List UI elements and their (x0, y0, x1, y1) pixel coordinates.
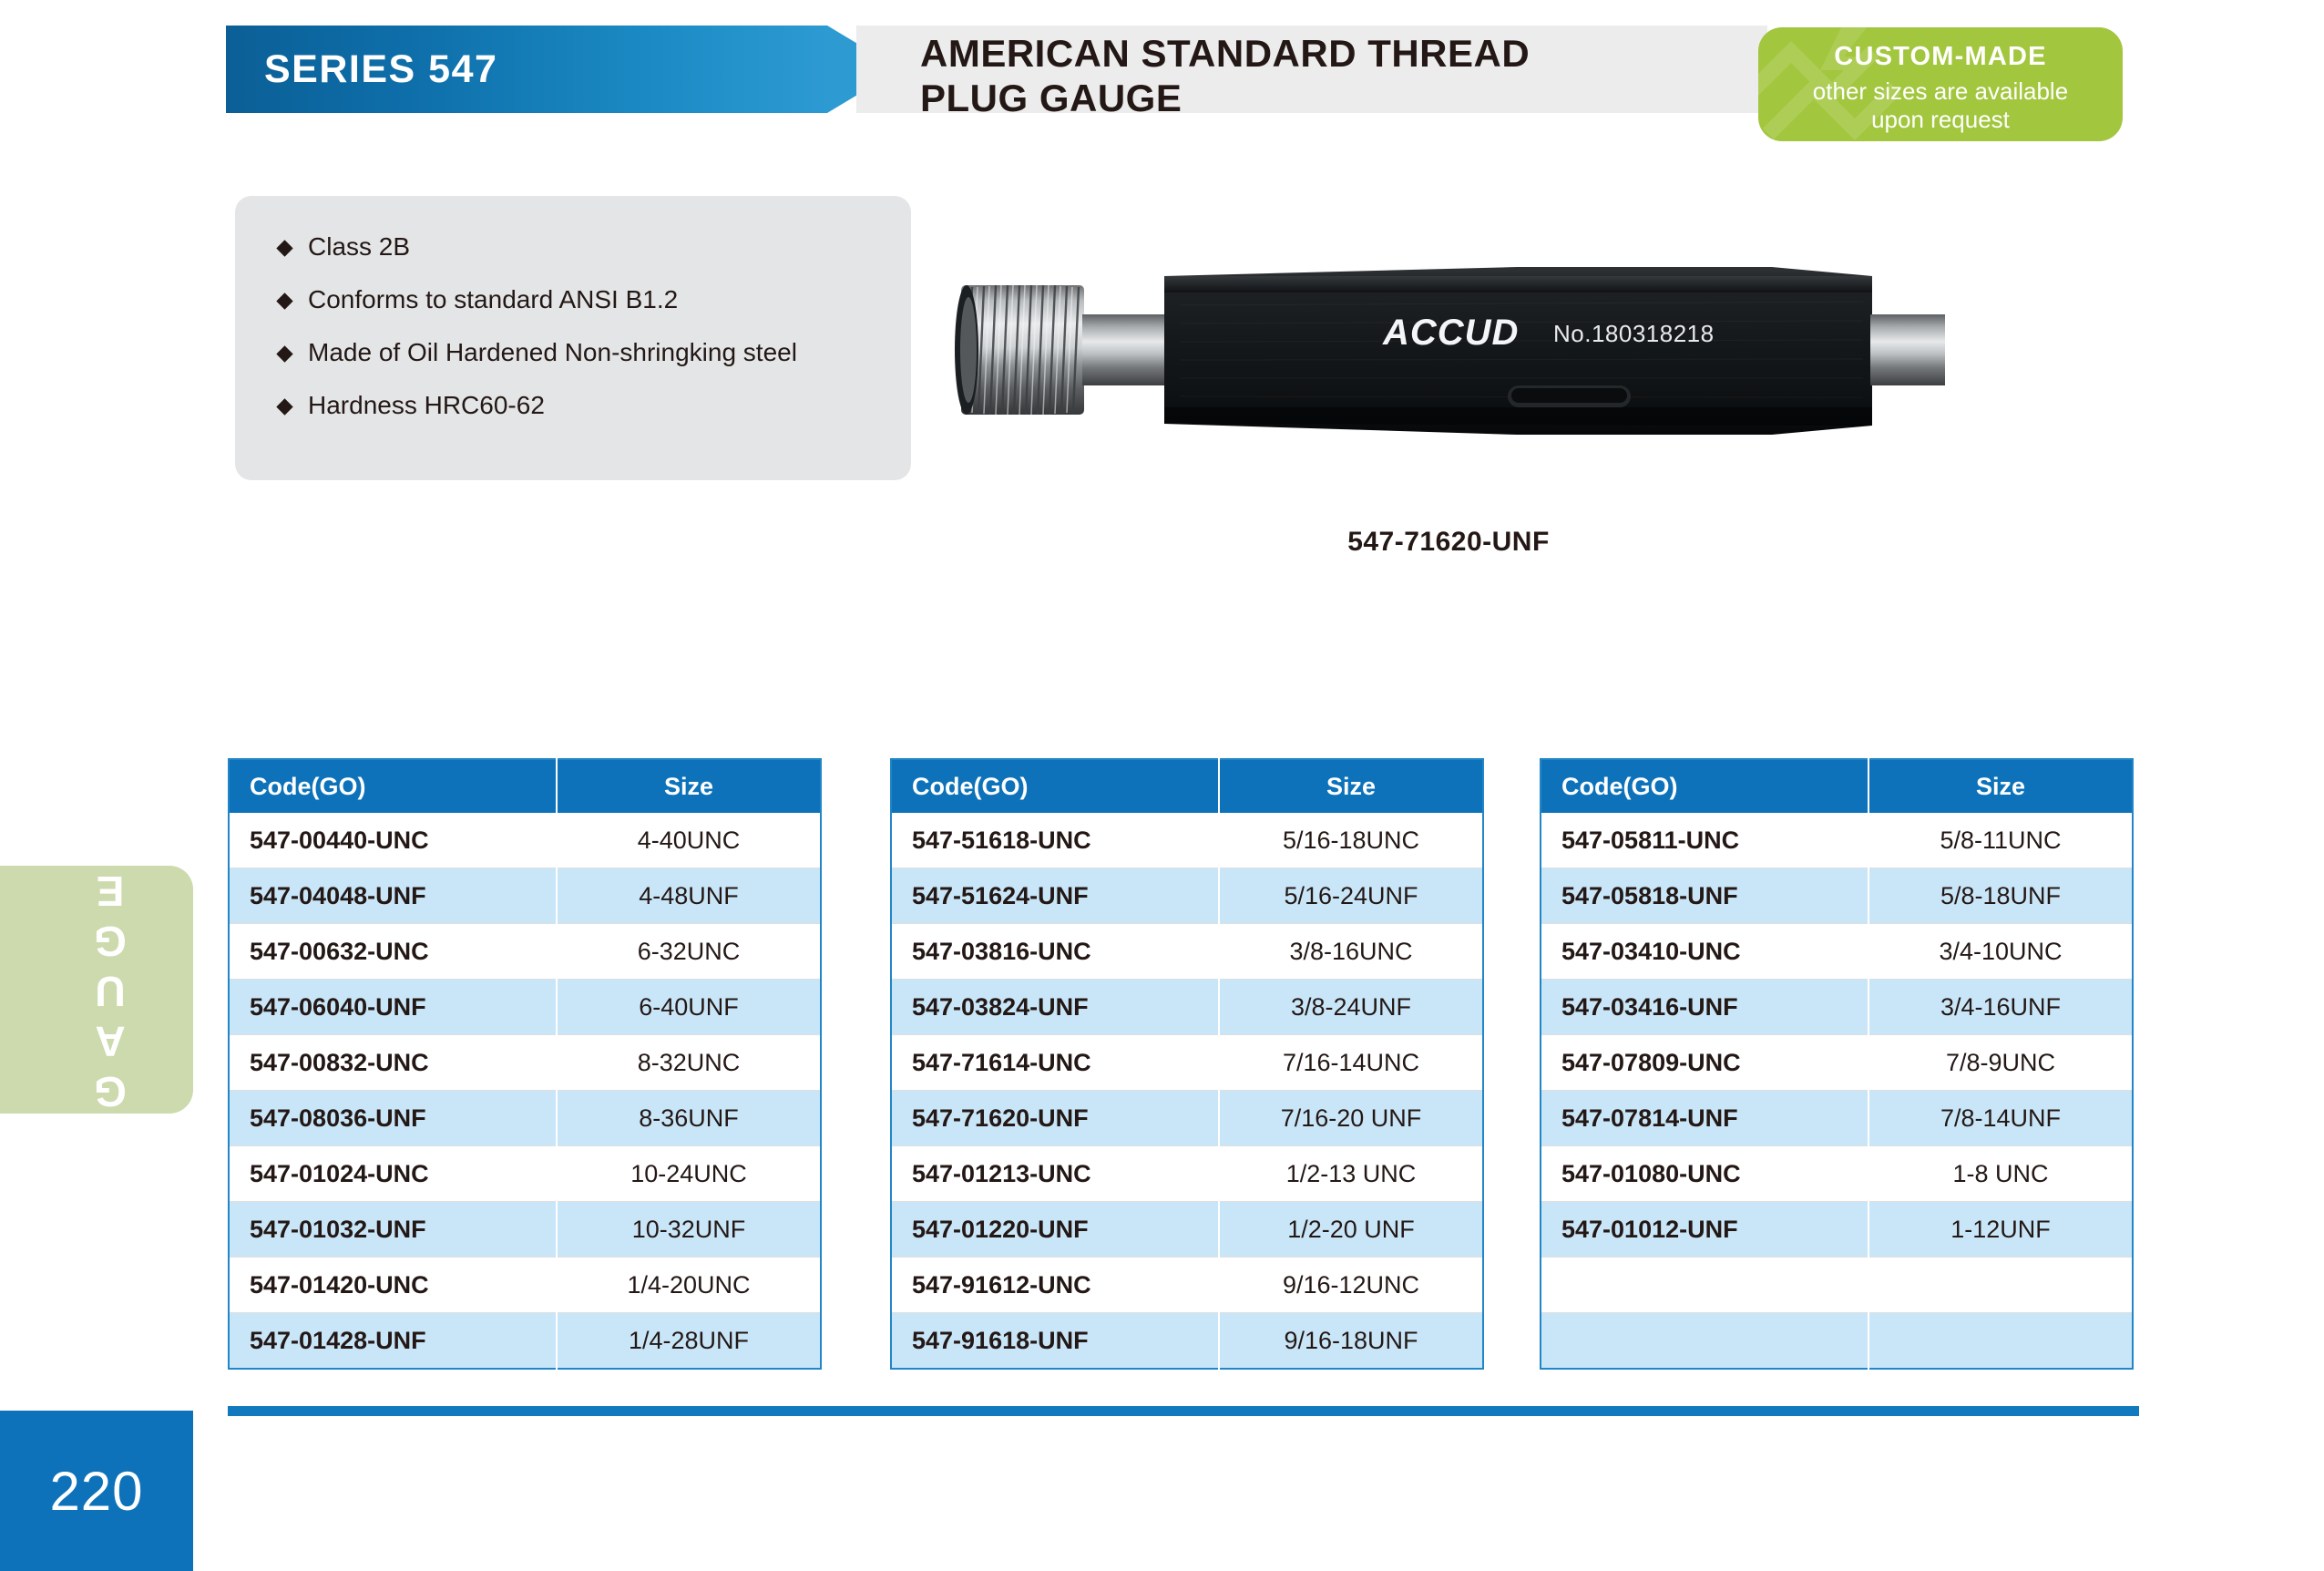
table-row: 547-01420-UNC1/4-20UNC (229, 1258, 821, 1313)
cell-size: 5/16-18UNC (1219, 813, 1483, 868)
cell-size: 5/8-18UNF (1868, 868, 2133, 924)
table-row: 547-91618-UNF9/16-18UNF (891, 1313, 1483, 1370)
series-label: SERIES 547 (264, 26, 497, 113)
table-row: 547-91612-UNC9/16-12UNC (891, 1258, 1483, 1313)
brand-text: ACCUD (1382, 313, 1519, 353)
cell-code: 547-03410-UNC (1541, 924, 1868, 980)
table-header-row: Code(GO) Size (229, 759, 821, 813)
section-tab-label: GAUGE (86, 865, 135, 1115)
cell-size: 9/16-12UNC (1219, 1258, 1483, 1313)
cell-size: 6-40UNF (557, 980, 821, 1035)
table-row-empty (1541, 1258, 2133, 1313)
cell-size: 3/8-24UNF (1219, 980, 1483, 1035)
cell-size: 10-24UNC (557, 1146, 821, 1202)
cell-size: 7/16-14UNC (1219, 1035, 1483, 1091)
feature-item: Made of Oil Hardened Non-shringking stee… (279, 338, 895, 367)
table-row: 547-01012-UNF1-12UNF (1541, 1202, 2133, 1258)
feature-item-label: Class 2B (308, 232, 410, 262)
cell-size: 3/4-16UNF (1868, 980, 2133, 1035)
table-row: 547-51624-UNF5/16-24UNF (891, 868, 1483, 924)
cell-size (1868, 1258, 2133, 1313)
cell-size: 8-32UNC (557, 1035, 821, 1091)
table-row: 547-71614-UNC7/16-14UNC (891, 1035, 1483, 1091)
spec-table-3: Code(GO) Size 547-05811-UNC5/8-11UNC 547… (1540, 758, 2134, 1370)
section-tab-label-wrap: GAUGE (0, 866, 193, 1114)
diamond-bullet-icon (276, 398, 292, 415)
cell-code: 547-05811-UNC (1541, 813, 1868, 868)
cell-code: 547-01220-UNF (891, 1202, 1219, 1258)
thread-plug-gauge-illustration: ACCUD No.180318218 (952, 251, 1945, 447)
cell-code: 547-00632-UNC (229, 924, 557, 980)
cell-code: 547-01420-UNC (229, 1258, 557, 1313)
product-caption: 547-71620-UNF (952, 527, 1945, 558)
column-header-code: Code(GO) (229, 759, 557, 813)
spec-table-1: Code(GO) Size 547-00440-UNC4-40UNC 547-0… (228, 758, 822, 1370)
table-row: 547-04048-UNF4-48UNF (229, 868, 821, 924)
cell-code: 547-91612-UNC (891, 1258, 1219, 1313)
right-shaft (1870, 314, 1945, 385)
table-row: 547-05818-UNF5/8-18UNF (1541, 868, 2133, 924)
spec-table-2: Code(GO) Size 547-51618-UNC5/16-18UNC 54… (890, 758, 1484, 1370)
badge-subtitle: other sizes are available upon request (1758, 77, 2123, 133)
cell-code (1541, 1258, 1868, 1313)
cell-size: 4-48UNF (557, 868, 821, 924)
cell-size (1868, 1313, 2133, 1370)
cell-code: 547-08036-UNF (229, 1091, 557, 1146)
badge-title: CUSTOM-MADE (1758, 42, 2123, 72)
footer-divider (228, 1406, 2139, 1416)
table-row: 547-07814-UNF7/8-14UNF (1541, 1091, 2133, 1146)
cell-size: 7/16-20 UNF (1219, 1091, 1483, 1146)
table-row: 547-00440-UNC4-40UNC (229, 813, 821, 868)
cell-size: 3/4-10UNC (1868, 924, 2133, 980)
cell-code: 547-01024-UNC (229, 1146, 557, 1202)
left-thread-end (955, 285, 1084, 415)
cell-code: 547-03824-UNF (891, 980, 1219, 1035)
cell-size: 1-8 UNC (1868, 1146, 2133, 1202)
table-row: 547-07809-UNC7/8-9UNC (1541, 1035, 2133, 1091)
column-header-code: Code(GO) (1541, 759, 1868, 813)
badge-subtitle-line-2: upon request (1769, 106, 2112, 134)
table-row: 547-01080-UNC1-8 UNC (1541, 1146, 2133, 1202)
table-row-empty (1541, 1313, 2133, 1370)
cell-code: 547-01012-UNF (1541, 1202, 1868, 1258)
table-row: 547-05811-UNC5/8-11UNC (1541, 813, 2133, 868)
table-row: 547-06040-UNF6-40UNF (229, 980, 821, 1035)
table-row: 547-00632-UNC6-32UNC (229, 924, 821, 980)
product-photo: ACCUD No.180318218 (952, 251, 1945, 447)
table-row: 547-01024-UNC10-24UNC (229, 1146, 821, 1202)
gauge-body: ACCUD No.180318218 (1164, 267, 1872, 435)
feature-item: Hardness HRC60-62 (279, 391, 895, 420)
feature-box: Class 2B Conforms to standard ANSI B1.2 … (235, 196, 911, 480)
table-row: 547-01032-UNF10-32UNF (229, 1202, 821, 1258)
table-row: 547-51618-UNC5/16-18UNC (891, 813, 1483, 868)
badge-subtitle-line-1: other sizes are available (1769, 77, 2112, 106)
table-row: 547-03816-UNC3/8-16UNC (891, 924, 1483, 980)
cell-size: 9/16-18UNF (1219, 1313, 1483, 1370)
column-header-size: Size (557, 759, 821, 813)
cell-size: 8-36UNF (557, 1091, 821, 1146)
page-number-block: 220 (0, 1411, 193, 1571)
left-shaft (1082, 314, 1164, 385)
cell-code: 547-07814-UNF (1541, 1091, 1868, 1146)
table-row: 547-71620-UNF7/16-20 UNF (891, 1091, 1483, 1146)
diamond-bullet-icon (276, 293, 292, 309)
diamond-bullet-icon (276, 345, 292, 362)
series-banner: SERIES 547 (226, 26, 900, 113)
column-header-size: Size (1219, 759, 1483, 813)
table-row: 547-03410-UNC3/4-10UNC (1541, 924, 2133, 980)
cell-size: 6-32UNC (557, 924, 821, 980)
feature-item-label: Hardness HRC60-62 (308, 391, 545, 420)
cell-code: 547-00440-UNC (229, 813, 557, 868)
catalog-page: SERIES 547 AMERICAN STANDARD THREAD PLUG… (0, 0, 2324, 1571)
cell-code: 547-71620-UNF (891, 1091, 1219, 1146)
feature-item: Class 2B (279, 232, 895, 262)
cell-size: 7/8-9UNC (1868, 1035, 2133, 1091)
cell-code: 547-01080-UNC (1541, 1146, 1868, 1202)
column-header-size: Size (1868, 759, 2133, 813)
cell-size: 1-12UNF (1868, 1202, 2133, 1258)
cell-code: 547-06040-UNF (229, 980, 557, 1035)
feature-item: Conforms to standard ANSI B1.2 (279, 285, 895, 314)
feature-item-label: Conforms to standard ANSI B1.2 (308, 285, 678, 314)
diamond-bullet-icon (276, 240, 292, 256)
feature-list: Class 2B Conforms to standard ANSI B1.2 … (279, 232, 895, 444)
cell-size: 3/8-16UNC (1219, 924, 1483, 980)
cell-code: 547-04048-UNF (229, 868, 557, 924)
table-header-row: Code(GO) Size (1541, 759, 2133, 813)
cell-code (1541, 1313, 1868, 1370)
serial-text: No.180318218 (1553, 320, 1715, 347)
cell-size: 1/4-20UNC (557, 1258, 821, 1313)
cell-code: 547-91618-UNF (891, 1313, 1219, 1370)
cell-size: 10-32UNF (557, 1202, 821, 1258)
section-tab-gauge: GAUGE (0, 866, 193, 1114)
cell-code: 547-03416-UNF (1541, 980, 1868, 1035)
page-number-label: 220 (0, 1411, 193, 1571)
cell-code: 547-01032-UNF (229, 1202, 557, 1258)
custom-made-badge: CUSTOM-MADE other sizes are available up… (1758, 27, 2123, 141)
cell-code: 547-01428-UNF (229, 1313, 557, 1370)
cell-code: 547-03816-UNC (891, 924, 1219, 980)
table-row: 547-03416-UNF3/4-16UNF (1541, 980, 2133, 1035)
cell-size: 4-40UNC (557, 813, 821, 868)
page-title-line-1: AMERICAN STANDARD THREAD (920, 31, 1776, 76)
cell-size: 1/2-20 UNF (1219, 1202, 1483, 1258)
cell-code: 547-01213-UNC (891, 1146, 1219, 1202)
table-row: 547-00832-UNC8-32UNC (229, 1035, 821, 1091)
cell-size: 1/4-28UNF (557, 1313, 821, 1370)
cell-code: 547-07809-UNC (1541, 1035, 1868, 1091)
table-row: 547-01220-UNF1/2-20 UNF (891, 1202, 1483, 1258)
feature-item-label: Made of Oil Hardened Non-shringking stee… (308, 338, 797, 367)
cell-code: 547-00832-UNC (229, 1035, 557, 1091)
column-header-code: Code(GO) (891, 759, 1219, 813)
table-header-row: Code(GO) Size (891, 759, 1483, 813)
cell-code: 547-05818-UNF (1541, 868, 1868, 924)
page-title: AMERICAN STANDARD THREAD PLUG GAUGE (920, 31, 1776, 120)
cell-size: 1/2-13 UNC (1219, 1146, 1483, 1202)
table-row: 547-08036-UNF8-36UNF (229, 1091, 821, 1146)
page-title-line-2: PLUG GAUGE (920, 76, 1776, 120)
cell-size: 5/8-11UNC (1868, 813, 2133, 868)
table-row: 547-03824-UNF3/8-24UNF (891, 980, 1483, 1035)
table-row: 547-01428-UNF1/4-28UNF (229, 1313, 821, 1370)
cell-size: 7/8-14UNF (1868, 1091, 2133, 1146)
cell-code: 547-51618-UNC (891, 813, 1219, 868)
cell-code: 547-51624-UNF (891, 868, 1219, 924)
cell-code: 547-71614-UNC (891, 1035, 1219, 1091)
table-row: 547-01213-UNC1/2-13 UNC (891, 1146, 1483, 1202)
cell-size: 5/16-24UNF (1219, 868, 1483, 924)
